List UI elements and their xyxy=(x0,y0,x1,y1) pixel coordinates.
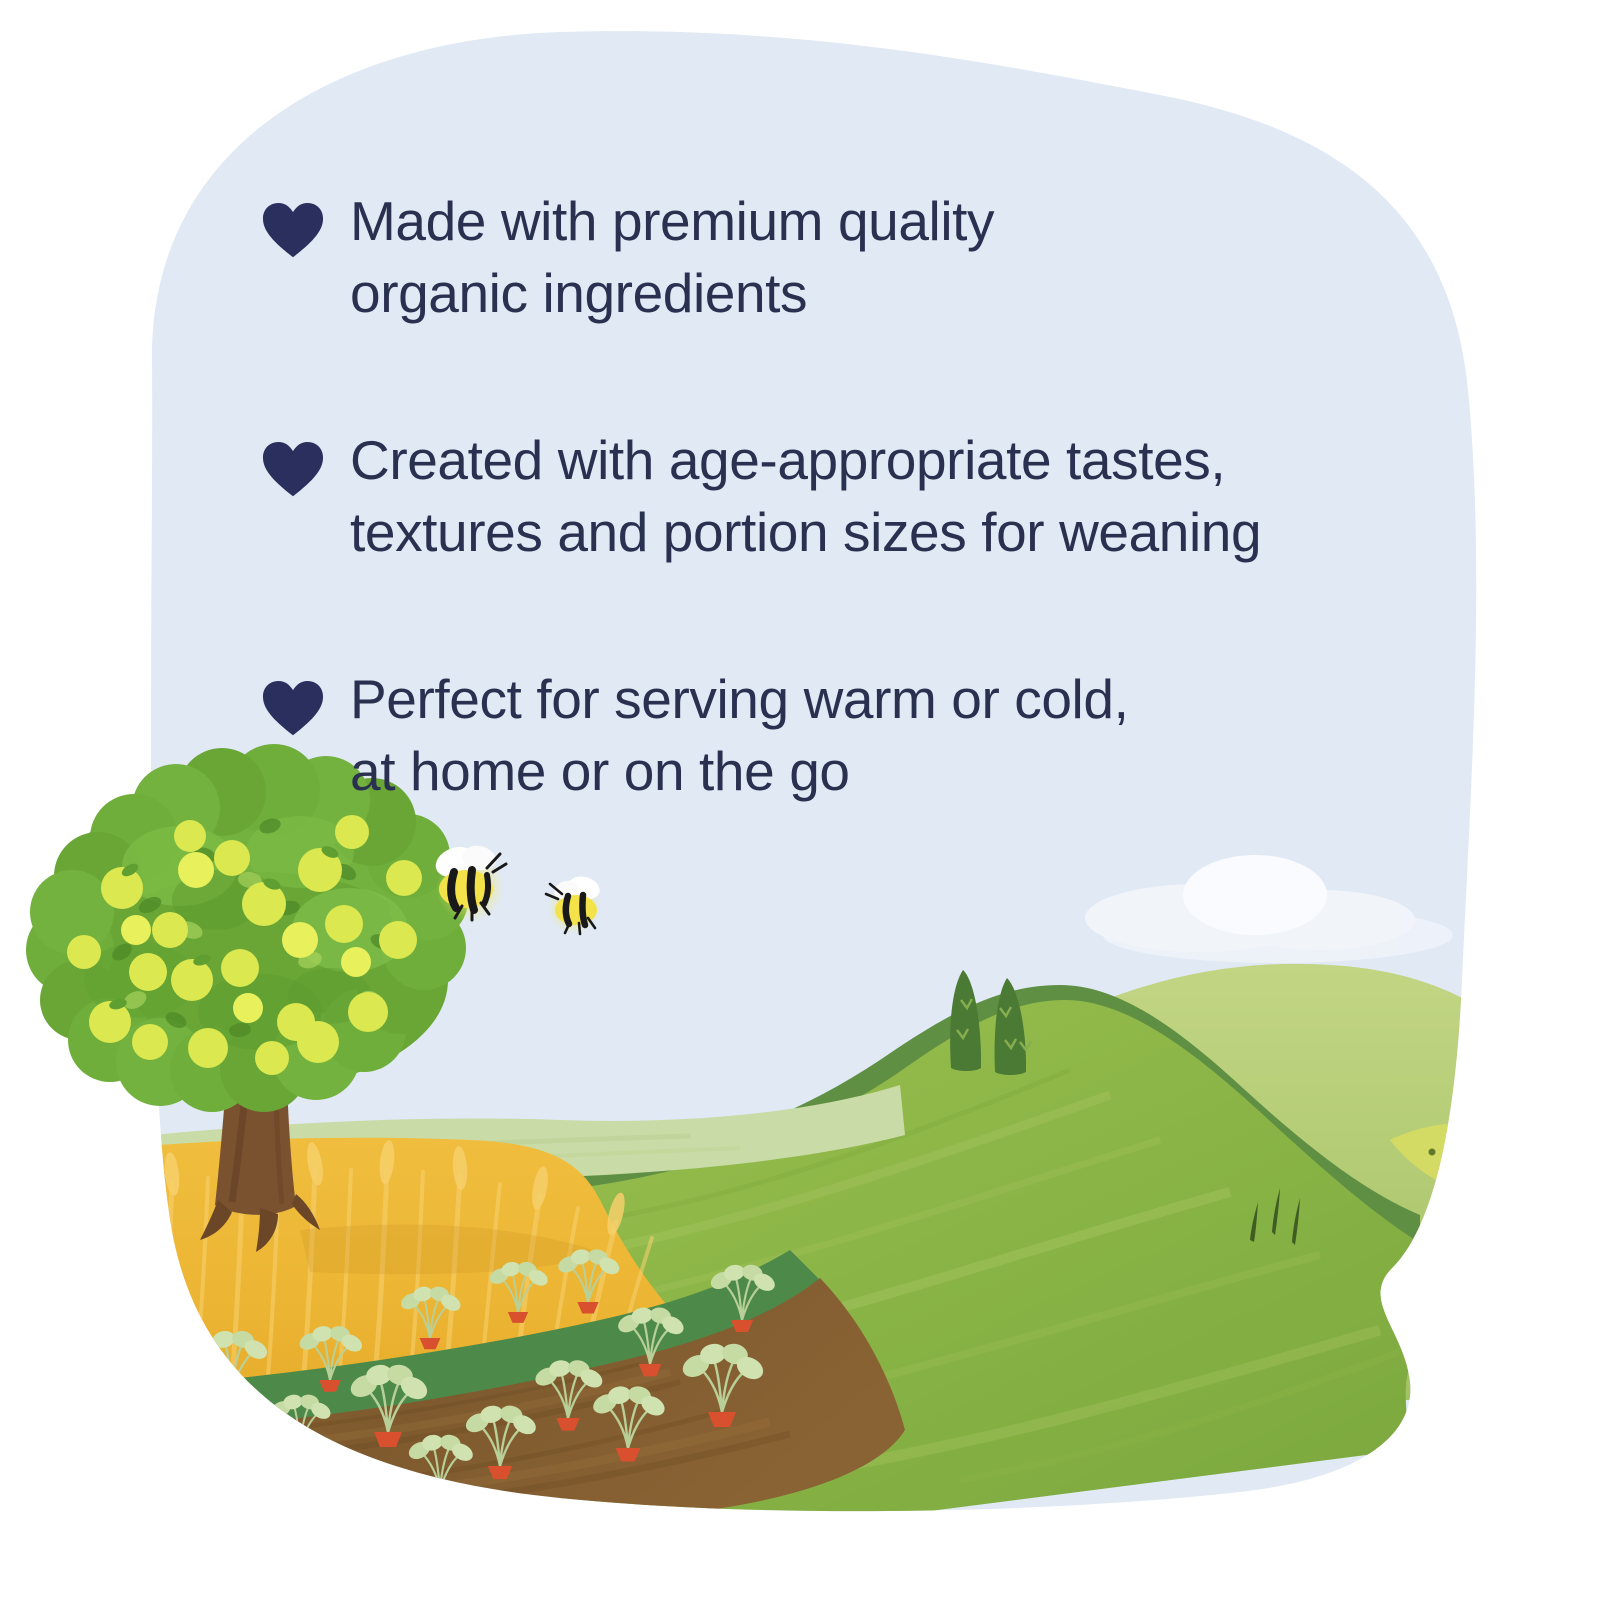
list-item: Made with premium quality organic ingred… xyxy=(262,186,1382,329)
list-item: Perfect for serving warm or cold, at hom… xyxy=(262,664,1382,807)
benefits-list: Made with premium quality organic ingred… xyxy=(262,186,1382,807)
heart-icon xyxy=(262,202,324,258)
list-item-label: Created with age-appropriate tastes, tex… xyxy=(350,425,1261,568)
promo-card: Made with premium quality organic ingred… xyxy=(0,0,1600,1600)
list-item-label: Perfect for serving warm or cold, at hom… xyxy=(350,664,1128,807)
heart-icon xyxy=(262,680,324,736)
heart-icon xyxy=(262,441,324,497)
list-item-label: Made with premium quality organic ingred… xyxy=(350,186,994,329)
list-item: Created with age-appropriate tastes, tex… xyxy=(262,425,1382,568)
